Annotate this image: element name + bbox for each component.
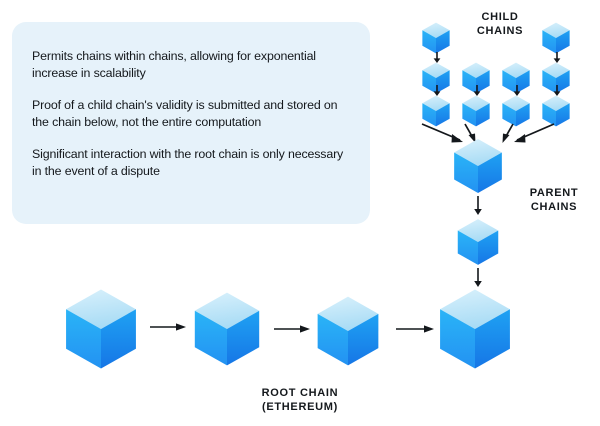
info-paragraph-2: Proof of a child chain's validity is sub… <box>32 97 352 130</box>
child-chain-down-arrow-c1-1 <box>430 52 444 64</box>
root-chain-label: ROOT CHAIN (ETHEREUM) <box>215 386 385 414</box>
info-panel: Permits chains within chains, allowing f… <box>12 22 370 224</box>
child-chain-down-arrow-c1-2 <box>430 85 444 97</box>
parent-chain-cube-1 <box>452 138 504 194</box>
converging-arrow-4 <box>508 122 558 146</box>
root-chain-cube-3 <box>315 295 381 367</box>
info-paragraph-1: Permits chains within chains, allowing f… <box>32 48 352 81</box>
parent-chain-down-arrow-2 <box>471 268 485 288</box>
child-chain-cube-c4-r1 <box>541 22 571 54</box>
root-chain-cube-4 <box>437 288 513 370</box>
diagram-canvas: Permits chains within chains, allowing f… <box>0 0 600 426</box>
info-paragraph-3: Significant interaction with the root ch… <box>32 146 352 179</box>
parent-chain-cube-2 <box>456 218 500 266</box>
root-chain-arrow-3 <box>396 322 436 336</box>
child-chain-cube-c1-r1 <box>421 22 451 54</box>
root-chain-cube-2 <box>192 291 262 367</box>
parent-chains-label: PARENT CHAINS <box>514 186 594 214</box>
parent-chain-down-arrow-1 <box>471 196 485 216</box>
root-chain-cube-1 <box>63 288 139 370</box>
child-chains-label: CHILD CHAINS <box>452 10 548 38</box>
info-text-block: Permits chains within chains, allowing f… <box>32 48 352 179</box>
child-chain-down-arrow-c4-2 <box>550 85 564 97</box>
child-chain-down-arrow-c2-1 <box>470 85 484 97</box>
root-chain-arrow-1 <box>150 320 188 334</box>
child-chain-down-arrow-c4-1 <box>550 52 564 64</box>
child-chain-down-arrow-c3-1 <box>510 85 524 97</box>
root-chain-arrow-2 <box>274 322 312 336</box>
